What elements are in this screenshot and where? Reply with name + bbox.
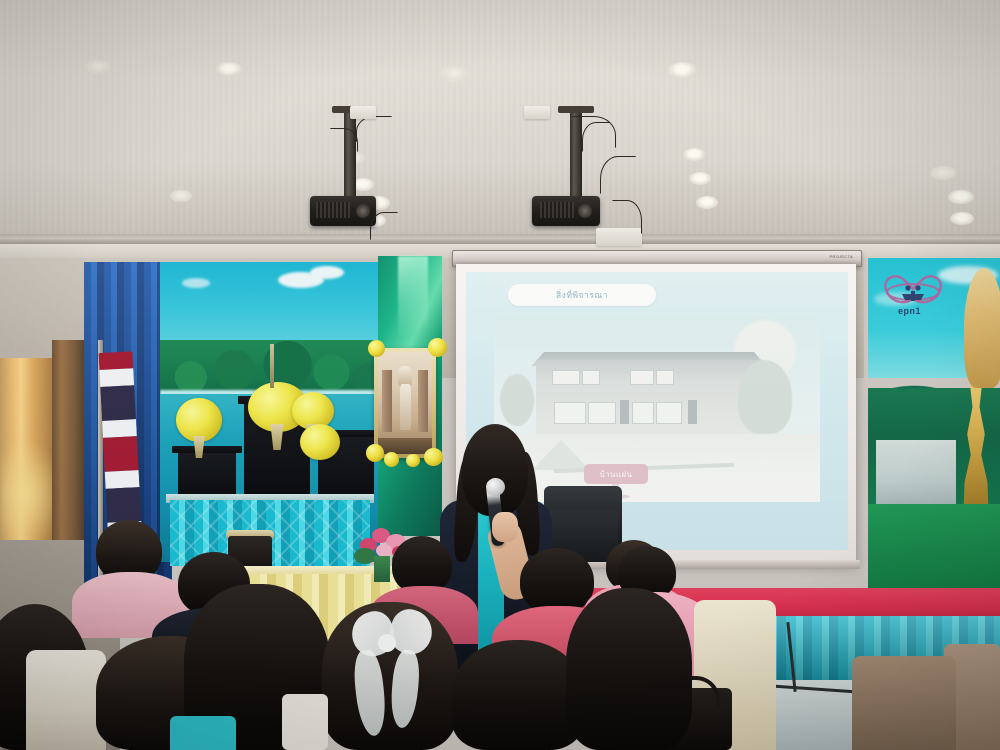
downlight-5 (440, 66, 468, 82)
banner-temple-building (876, 440, 956, 510)
screen-brand-label: PROJECTA (830, 254, 853, 259)
banner-buddha-statue (964, 268, 1000, 388)
flag-stripe-4 (102, 419, 137, 438)
presenter-hand (492, 512, 518, 542)
flower-arrangement (176, 398, 222, 442)
backdrop-cloud (182, 278, 210, 288)
slide-tree (738, 360, 792, 434)
slide-photograph: บ้านแฝน (494, 316, 820, 502)
royal-portrait-frame (374, 348, 436, 458)
backdrop-cloud (310, 266, 344, 279)
downlight-9 (696, 196, 718, 209)
slide-tree (500, 374, 534, 426)
slide-title-pill: สิ่งที่พิจารณา (508, 284, 656, 306)
downlight-8 (689, 172, 711, 185)
downlight-3 (216, 62, 242, 76)
chair-cover (26, 650, 106, 750)
paper-sheet (282, 694, 328, 750)
downlight-10 (930, 166, 956, 180)
marigold-garland (406, 454, 420, 467)
flag-stripe-7 (105, 470, 140, 489)
ceiling-texture (0, 0, 1000, 262)
flag-stripe-1 (98, 351, 133, 370)
projector-lens-left (356, 204, 370, 218)
royal-portrait-image (378, 352, 432, 454)
downlight-1 (85, 60, 111, 74)
conference-hall-photo: epn1 PROJECTA สิ่งที่พิจารณา บริบทของ (0, 0, 1000, 750)
wall-ledge (0, 234, 1000, 244)
ceiling-mount-plate-left (350, 106, 376, 119)
ceiling-mount-plate-right (524, 106, 550, 119)
banner-logo-text: epn1 (898, 306, 921, 316)
marigold-garland (384, 452, 399, 467)
downlight-11 (948, 190, 974, 204)
downlight-12 (950, 212, 974, 225)
downlight-6 (668, 62, 696, 78)
projector-lens-right (578, 204, 592, 218)
audience-head (520, 548, 594, 614)
flag-stripe-6 (104, 453, 139, 472)
downlight-2 (170, 190, 192, 202)
downlight-7 (683, 148, 705, 161)
marigold-garland (428, 338, 447, 357)
audience-head-front (566, 588, 692, 750)
flag-stripe-3 (100, 385, 136, 421)
marigold-garland (368, 340, 385, 357)
right-wall-banner: epn1 (864, 258, 1000, 608)
flag-stripe-8 (106, 487, 142, 523)
flag-stripe-2 (99, 368, 134, 387)
flag-stripe-5 (103, 436, 138, 455)
slide-title-text: สิ่งที่พิจารณา (556, 288, 608, 302)
audience-head-front (452, 640, 584, 750)
marigold-garland (366, 444, 384, 462)
slide-building (536, 360, 762, 434)
table-cover (852, 656, 956, 750)
slide-photo-caption: บ้านแฝน (584, 464, 648, 484)
marigold-garland (424, 448, 443, 466)
flower-arrangement (300, 424, 340, 460)
audience-teal-shirt (170, 716, 236, 750)
slide-caption-text: บ้านแฝน (600, 468, 633, 481)
